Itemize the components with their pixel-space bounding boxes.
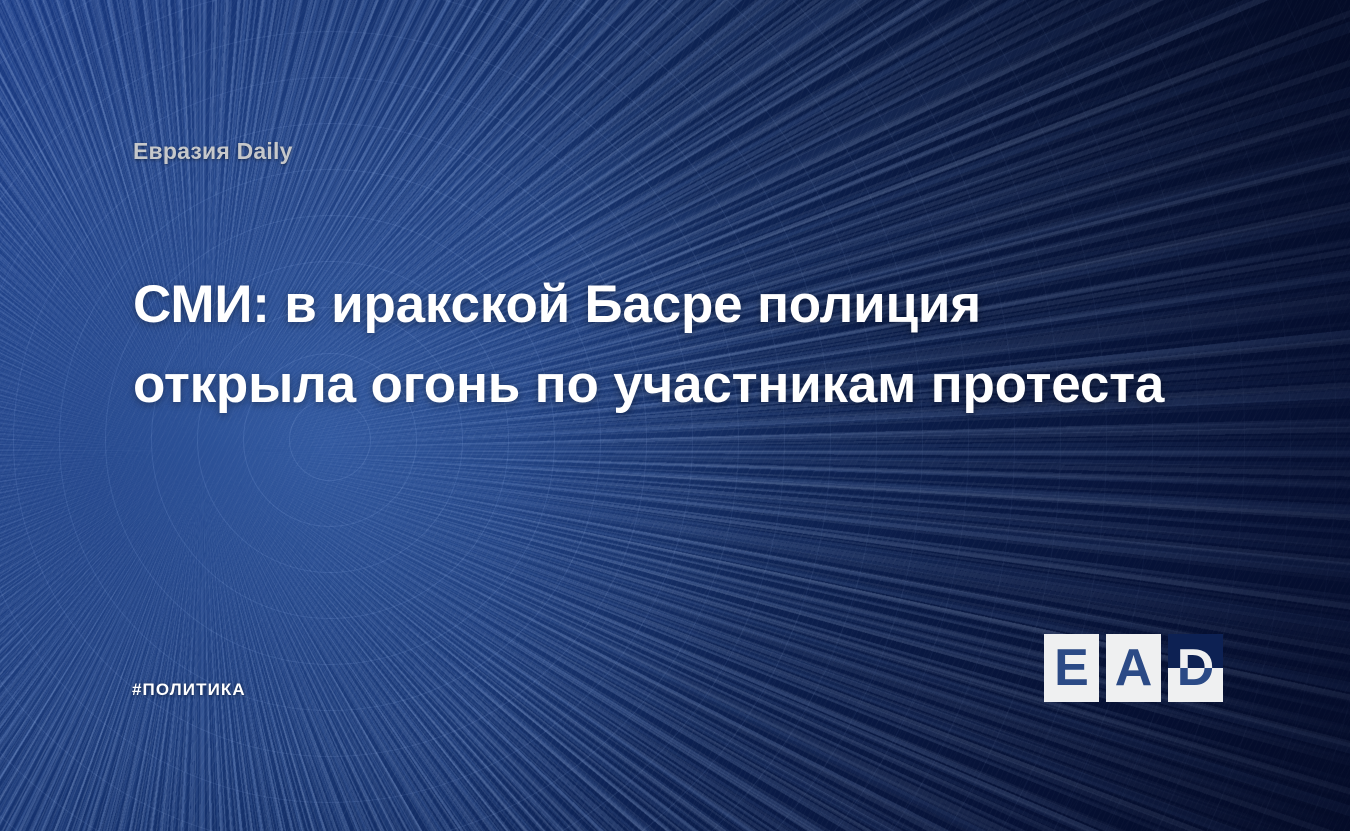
- logo-letter-a: A: [1115, 642, 1153, 694]
- card-content: Евразия Daily СМИ: в иракской Басре поли…: [0, 0, 1350, 831]
- logo-tile-d: D D: [1168, 634, 1223, 702]
- site-name: Евразия Daily: [133, 138, 293, 165]
- page-title: СМИ: в иракской Басре полиция открыла ог…: [133, 265, 1208, 425]
- ead-logo: E A D D: [1044, 634, 1224, 702]
- category-tag: #ПОЛИТИКА: [132, 680, 246, 700]
- logo-tile-a: A: [1106, 634, 1161, 702]
- news-share-card: Евразия Daily СМИ: в иракской Басре поли…: [0, 0, 1350, 831]
- logo-tile-d-bottom-half: D: [1168, 668, 1223, 702]
- logo-tile-e: E: [1044, 634, 1099, 702]
- logo-letter-e: E: [1054, 642, 1089, 694]
- logo-tile-d-top-half: D: [1168, 634, 1223, 668]
- logo-letter-d-inverted: D: [1168, 634, 1223, 668]
- logo-letter-d: D: [1168, 668, 1223, 702]
